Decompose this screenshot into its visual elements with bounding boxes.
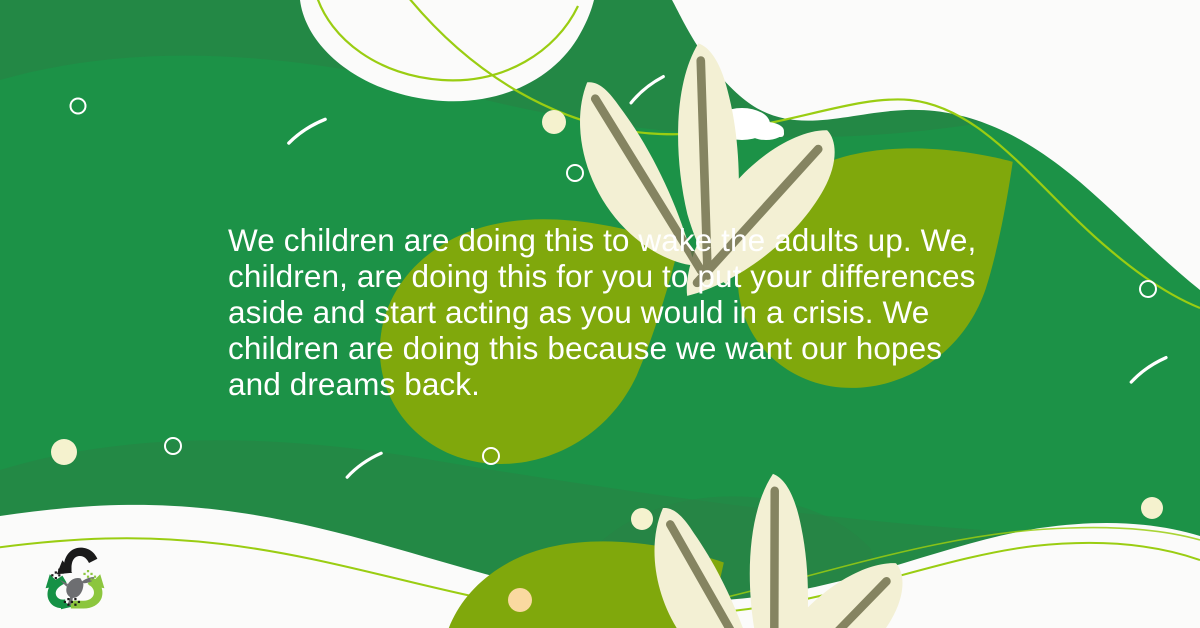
recycling-hummingbird-logo[interactable] (38, 542, 112, 612)
logo-arrow-top (57, 548, 98, 575)
quote-block: We children are doing this to wake the a… (228, 222, 998, 402)
dot-cream-bottommid (631, 508, 653, 530)
dot-cream-bottomleft (51, 439, 77, 465)
quote-text: We children are doing this to wake the a… (228, 222, 998, 402)
poster-canvas: We children are doing this to wake the a… (0, 0, 1200, 628)
dot-cream-topmid (542, 110, 566, 134)
dot-peach-bottom (508, 588, 532, 612)
dot-cream-bottomright (1141, 497, 1163, 519)
